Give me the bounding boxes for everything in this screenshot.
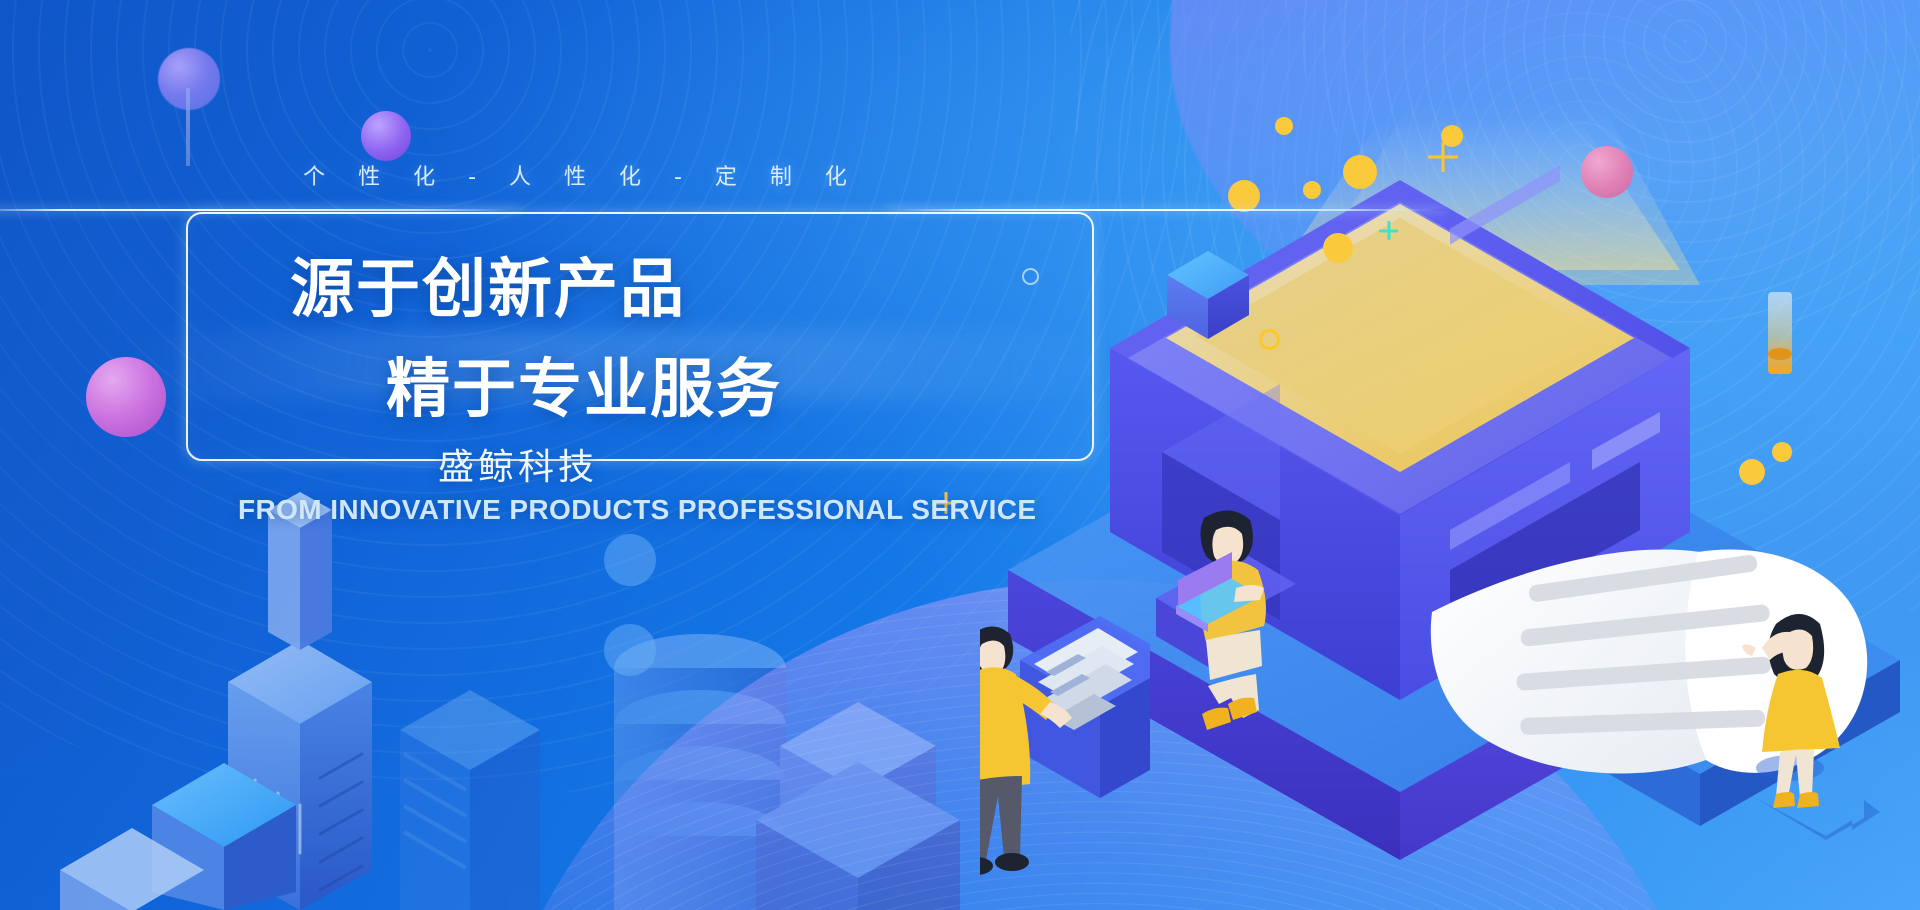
glow-divider-left bbox=[0, 209, 520, 211]
headline-block: 源于创新产品 精于专业服务 bbox=[186, 222, 1090, 452]
orange-cylinder-cap bbox=[1768, 348, 1792, 360]
eyebrow-text: 个 性 化 - 人 性 化 - 定 制 化 bbox=[303, 159, 860, 191]
ring-icon-yellow bbox=[1259, 329, 1280, 350]
eyebrow-text-container: 个 性 化 - 人 性 化 - 定 制 化 bbox=[0, 159, 1920, 191]
english-tagline: FROM INNOVATIVE PRODUCTS PROFESSIONAL SE… bbox=[238, 494, 1036, 526]
isometric-printer-scene bbox=[980, 100, 1920, 910]
orange-cylinder bbox=[1768, 292, 1792, 374]
violet-sphere bbox=[361, 111, 411, 161]
plus-icon-cyan bbox=[1379, 221, 1398, 240]
antenna-pole bbox=[186, 88, 190, 166]
man-at-kiosk bbox=[980, 616, 1150, 875]
hero-banner: 个 性 化 - 人 性 化 - 定 制 化 源于创新产品 精于专业服务 盛鲸科技… bbox=[0, 0, 1920, 910]
glow-divider-right bbox=[885, 209, 1445, 211]
brand-name: 盛鲸科技 bbox=[438, 438, 598, 490]
floating-cube-icon bbox=[1163, 247, 1253, 343]
headline-line-2: 精于专业服务 bbox=[386, 338, 782, 430]
headline-line-1: 源于创新产品 bbox=[290, 238, 686, 330]
